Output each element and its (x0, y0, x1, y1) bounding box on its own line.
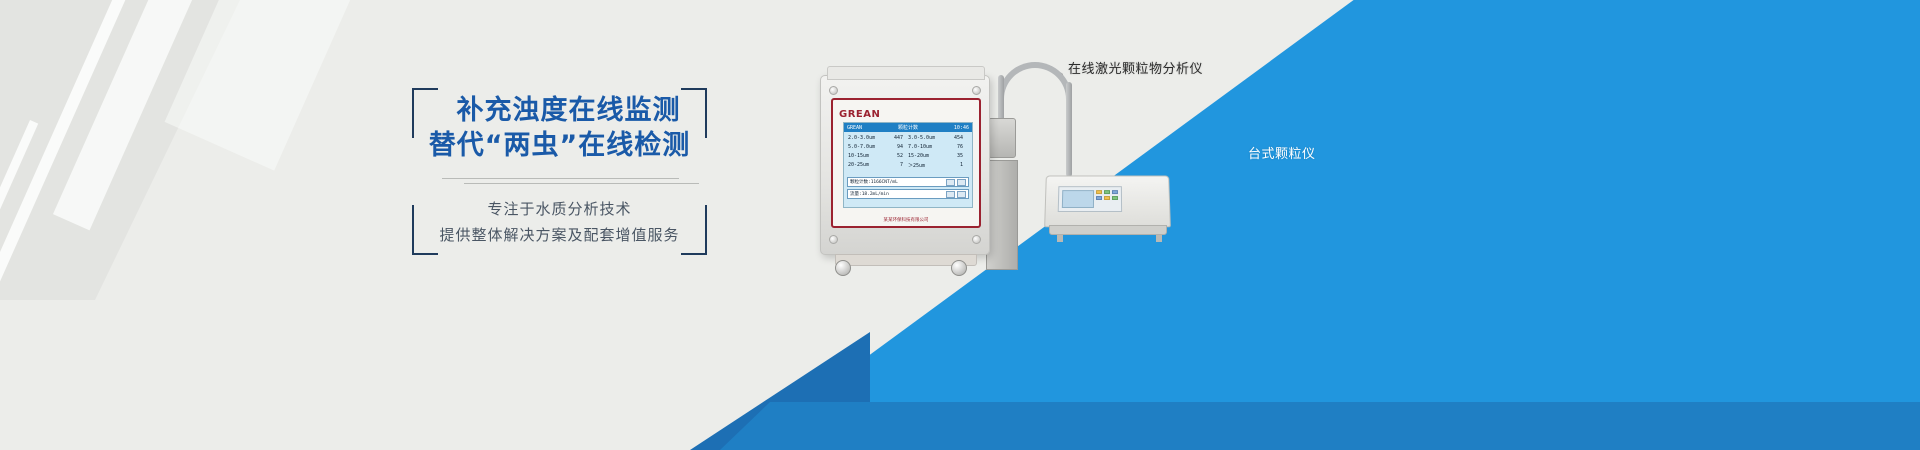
device-screen: GREAN 颗粒计数 10:46 2.0-3.0um 447 3.0-5.0um… (843, 122, 973, 208)
bench-foot (1049, 225, 1167, 235)
screen-data-grid: 2.0-3.0um 447 3.0-5.0um 454 5.0-7.0um 94… (844, 132, 972, 175)
key-icon (1112, 196, 1118, 200)
cell-value-2: 1 (936, 162, 969, 169)
cell-value-1: 447 (876, 135, 909, 141)
key-icon (1104, 196, 1110, 200)
screen-pad (946, 191, 955, 198)
mounting-stand (986, 160, 1018, 270)
headline-line-2: 替代“两虫”在线检测 (412, 129, 707, 164)
label-online-analyzer: 在线激光颗粒物分析仪 (1068, 58, 1203, 77)
enclosure-door: GREAN GREAN 颗粒计数 10:46 2.0-3.0um 447 3.0… (831, 98, 981, 228)
cell-range-2: 3.0-5.0um (908, 135, 936, 141)
bench-keypad (1096, 190, 1118, 200)
key-icon (1112, 190, 1118, 194)
cell-range-1: 20-25um (848, 162, 876, 169)
screen-pad (946, 179, 955, 186)
promo-banner: 补充浊度在线监测 替代“两虫”在线检测 专注于水质分析技术 提供整体解决方案及配… (0, 0, 1920, 450)
cell-range-1: 5.0-7.0um (848, 144, 876, 150)
bench-leg (1156, 235, 1162, 242)
status-text-1: 颗粒计数:1166CNT/mL (850, 179, 898, 185)
screen-status-row-2: 流量:18.2mL/min (847, 189, 969, 199)
bolt-icon (972, 235, 981, 244)
bolt-icon (829, 86, 838, 95)
screen-title-center: 颗粒计数 (898, 124, 918, 131)
table-row: 20-25um 7 ＞25um 1 (848, 162, 968, 169)
bolt-icon (829, 235, 838, 244)
cell-range-2: 7.0-10um (908, 144, 936, 150)
key-icon (1096, 190, 1102, 194)
headline-card: 补充浊度在线监测 替代“两虫”在线检测 专注于水质分析技术 提供整体解决方案及配… (412, 88, 707, 255)
enclosure-top-cap (827, 66, 985, 80)
bench-display (1062, 190, 1094, 208)
cell-value-2: 76 (936, 144, 969, 150)
label-bench-counter: 台式颗粒仪 (1248, 143, 1316, 162)
screen-pad (957, 179, 966, 186)
brand-name: GREAN (839, 109, 880, 120)
cell-value-2: 35 (936, 153, 969, 159)
divider-lower (464, 183, 699, 184)
screen-pad-group (946, 191, 966, 198)
status-text-2: 流量:18.2mL/min (850, 191, 889, 197)
subtitle-line-2: 提供整体解决方案及配套增值服务 (412, 222, 707, 248)
cell-value-1: 94 (876, 144, 909, 150)
subtitle-block: 专注于水质分析技术 提供整体解决方案及配套增值服务 (412, 196, 707, 249)
screen-pad (957, 191, 966, 198)
bench-body (1044, 175, 1171, 227)
cell-range-1: 10-15um (848, 153, 876, 159)
divider-upper (442, 178, 679, 179)
key-icon (1104, 190, 1110, 194)
cell-value-2: 454 (936, 135, 969, 141)
headline-line-1: 补充浊度在线监测 (412, 94, 707, 129)
table-row: 10-15um 52 15-20um 35 (848, 153, 968, 159)
valve-assembly (988, 118, 1016, 158)
screen-status-row-1: 颗粒计数:1166CNT/mL (847, 177, 969, 187)
cell-value-1: 52 (876, 153, 909, 159)
page-title: 补充浊度在线监测 替代“两虫”在线检测 (412, 94, 707, 163)
cell-range-2: ＞25um (908, 162, 936, 169)
bolt-icon (972, 86, 981, 95)
online-laser-particle-analyzer: GREAN GREAN 颗粒计数 10:46 2.0-3.0um 447 3.0… (820, 75, 990, 255)
screen-title-right: 10:46 (954, 125, 969, 131)
cable-gland-icon (835, 260, 851, 276)
cell-range-1: 2.0-3.0um (848, 135, 876, 141)
table-row: 2.0-3.0um 447 3.0-5.0um 454 (848, 135, 968, 141)
screen-pad-group (946, 179, 966, 186)
sample-pipe-down (1066, 82, 1072, 177)
product-image-group: 在线激光颗粒物分析仪 台式颗粒仪 GREAN GREAN 颗粒计数 (800, 0, 1420, 450)
device-footer-text: 某某环保科技有限公司 (833, 217, 979, 223)
sample-pipe-arc (998, 62, 1072, 104)
bench-control-panel (1058, 186, 1122, 212)
cable-gland-icon (951, 260, 967, 276)
table-row: 5.0-7.0um 94 7.0-10um 76 (848, 144, 968, 150)
bench-particle-counter (1045, 175, 1180, 250)
bench-leg (1057, 235, 1063, 242)
screen-titlebar: GREAN 颗粒计数 10:46 (844, 123, 972, 132)
cell-value-1: 7 (876, 162, 909, 169)
divider-group (412, 178, 707, 184)
cell-range-2: 15-20um (908, 153, 936, 159)
key-icon (1096, 196, 1102, 200)
subtitle-line-1: 专注于水质分析技术 (412, 196, 707, 222)
brand-bar: GREAN (839, 104, 977, 117)
screen-title-left: GREAN (847, 125, 862, 131)
